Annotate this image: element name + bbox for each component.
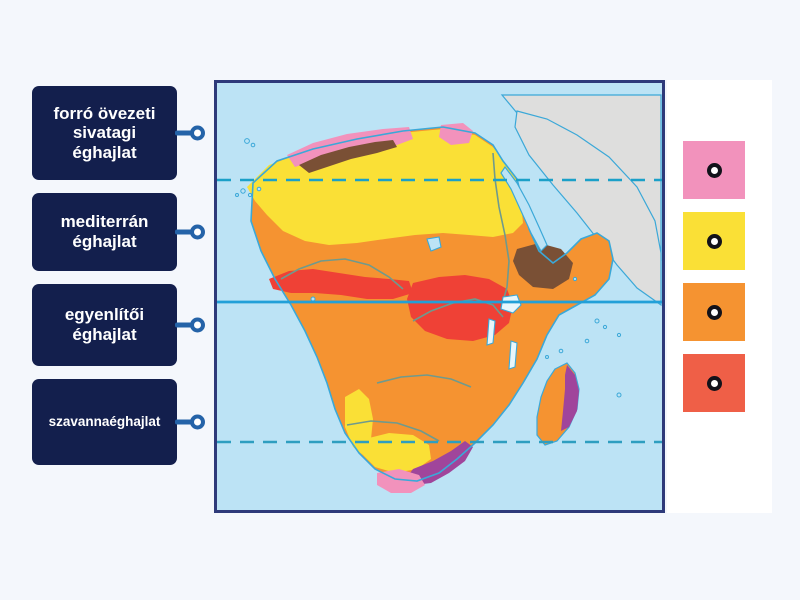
connector-dot-icon-3[interactable] [175, 317, 205, 333]
color-swatch-answer-slots [667, 80, 772, 513]
label-row-4: szavannaéghajlat [32, 379, 177, 465]
target-dot-icon [707, 234, 722, 249]
target-dot-icon [707, 376, 722, 391]
connector-ring [190, 318, 205, 333]
label-column: forró övezeti sivatagi éghajlat mediterr… [32, 86, 177, 478]
label-text: forró övezeti sivatagi éghajlat [40, 104, 169, 163]
label-box-forro-ovezeti-sivatagi-eghajlat[interactable]: forró övezeti sivatagi éghajlat [32, 86, 177, 180]
swatch-slot-orange[interactable] [683, 283, 745, 341]
connector-stem [175, 131, 194, 136]
label-row-2: mediterrán éghajlat [32, 193, 177, 271]
connector-ring [190, 415, 205, 430]
label-row-3: egyenlítői éghajlat [32, 284, 177, 366]
connector-stem [175, 230, 194, 235]
connector-ring [190, 126, 205, 141]
connector-stem [175, 323, 194, 328]
swatch-slot-red-orange[interactable] [683, 354, 745, 412]
label-box-szavannaeghajlat[interactable]: szavannaéghajlat [32, 379, 177, 465]
label-box-egyenlitoi-eghajlat[interactable]: egyenlítői éghajlat [32, 284, 177, 366]
connector-dot-icon-1[interactable] [175, 125, 205, 141]
map-svg [217, 83, 662, 510]
target-dot-icon [707, 305, 722, 320]
connector-stem [175, 420, 194, 425]
label-text: szavannaéghajlat [49, 414, 161, 430]
swatch-slot-pink[interactable] [683, 141, 745, 199]
label-text: mediterrán éghajlat [40, 212, 169, 251]
africa-climate-zones-map [214, 80, 665, 513]
target-dot-icon [707, 163, 722, 178]
label-text: egyenlítői éghajlat [40, 305, 169, 344]
connector-ring [190, 225, 205, 240]
label-box-mediterran-eghajlat[interactable]: mediterrán éghajlat [32, 193, 177, 271]
connector-dot-icon-2[interactable] [175, 224, 205, 240]
swatch-slot-yellow[interactable] [683, 212, 745, 270]
connector-dot-icon-4[interactable] [175, 414, 205, 430]
label-row-1: forró övezeti sivatagi éghajlat [32, 86, 177, 180]
